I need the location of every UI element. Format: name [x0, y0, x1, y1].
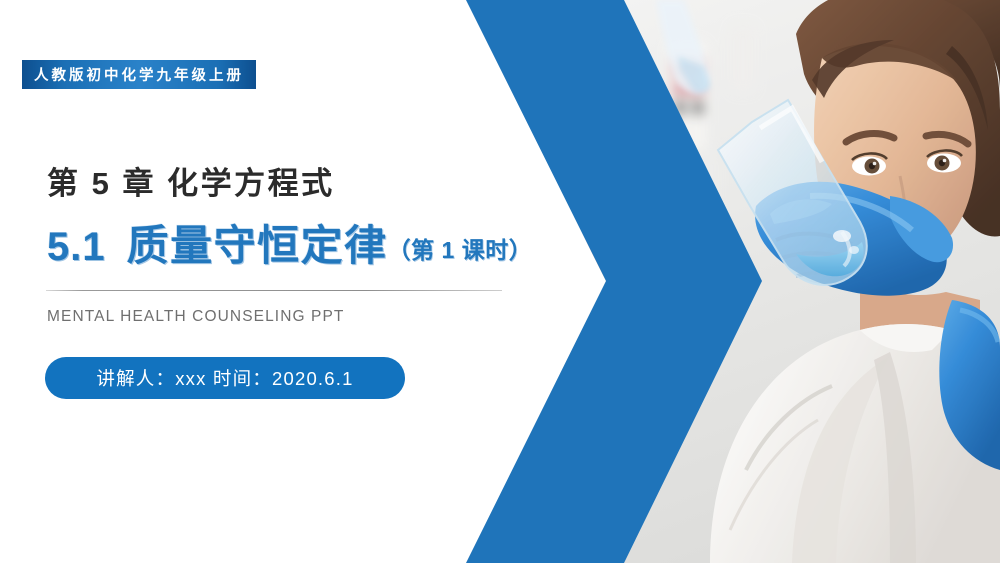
page-title: 5.1 质量守恒定律 （第 1 课时）: [47, 212, 532, 273]
title-divider: [46, 290, 502, 291]
presenter-pill: 讲解人：xxx 时间：2020.6.1: [45, 357, 405, 399]
title-main-text: 质量守恒定律: [127, 212, 388, 273]
title-session-note: （第 1 课时）: [388, 231, 533, 265]
title-number: 5.1: [47, 225, 106, 270]
english-subtitle: MENTAL HEALTH COUNSELING PPT: [47, 308, 345, 326]
photo-illustration: [560, 0, 1000, 563]
textbook-badge-label: 人教版初中化学九年级上册: [34, 64, 244, 85]
lab-scientist-photo: [560, 0, 1000, 563]
chapter-heading: 第 5 章 化学方程式: [47, 158, 335, 203]
presentation-slide: 人教版初中化学九年级上册 第 5 章 化学方程式 5.1 质量守恒定律 （第 1…: [0, 0, 1000, 563]
textbook-badge: 人教版初中化学九年级上册: [22, 60, 256, 89]
title-content-block: 人教版初中化学九年级上册 第 5 章 化学方程式 5.1 质量守恒定律 （第 1…: [0, 0, 520, 563]
presenter-pill-label: 讲解人：xxx 时间：2020.6.1: [96, 365, 353, 391]
